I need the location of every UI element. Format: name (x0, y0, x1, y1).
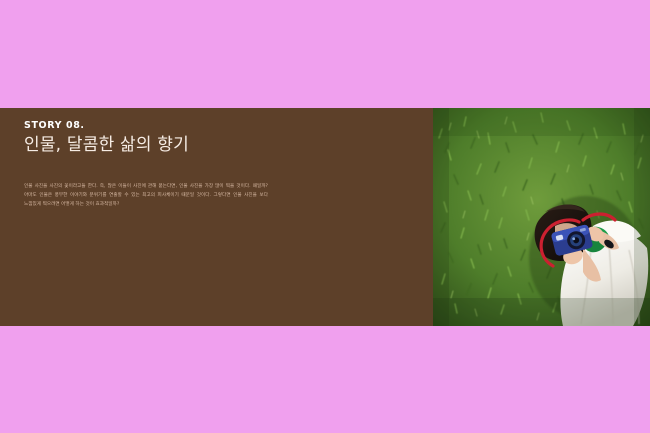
page-canvas: STORY 08. 인물, 달콤한 삶의 향기 인물 사진을 사진의 꽃이라고들… (0, 0, 650, 433)
girl-with-camera-on-grass-illustration (433, 108, 650, 326)
story-kicker: STORY 08. (24, 121, 411, 131)
page-title: 인물, 달콤한 삶의 향기 (24, 135, 411, 156)
story-panel-text-area: STORY 08. 인물, 달콤한 삶의 향기 인물 사진을 사진의 꽃이라고들… (0, 108, 433, 326)
story-photo (433, 108, 650, 326)
story-body-paragraph: 인물 사진을 사진의 꽃이라고들 한다. 즉, 많은 이들이 사진에 관해 묻는… (24, 183, 268, 210)
